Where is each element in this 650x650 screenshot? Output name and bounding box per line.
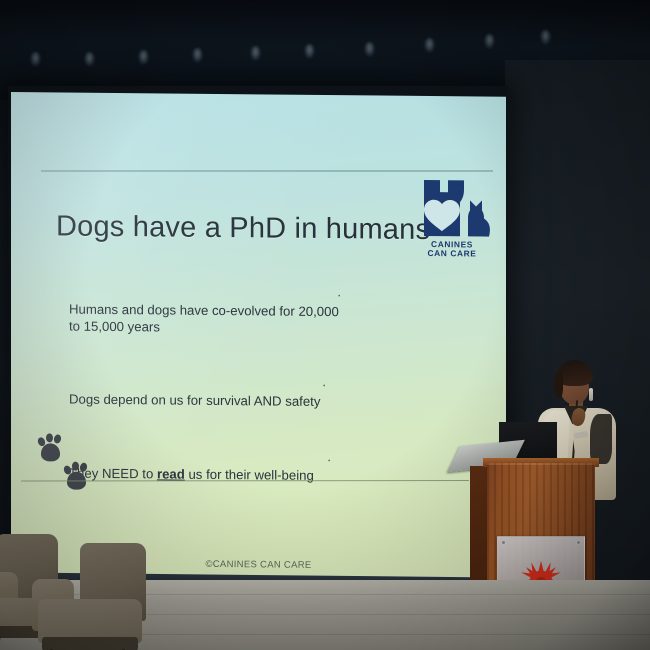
bullet-text: Humans and dogs have co-evolved for 20,0… [69, 301, 339, 334]
ceiling-light [138, 50, 149, 65]
bullet-marker: · [327, 451, 331, 468]
ceiling-light [84, 52, 95, 67]
slide-divider-bottom [21, 480, 469, 481]
dog-heart-logo-icon [408, 178, 494, 241]
speaker-shawl-pattern [590, 414, 612, 464]
logo-text: CANINES CAN CARE [410, 240, 494, 260]
logo-text-line2: CAN CARE [410, 249, 494, 259]
speaker-hair-side [554, 372, 563, 398]
ceiling-light [484, 34, 495, 49]
bullet-item: They NEED to read us for their well-bein… [69, 447, 399, 503]
chair [32, 543, 152, 650]
slide-title: Dogs have a PhD in humans [56, 210, 430, 247]
ceiling-light [540, 30, 551, 45]
slide-divider-top [41, 170, 493, 171]
ceiling-light [250, 46, 261, 61]
slide-bullet-list: Humans and dogs have co-evolved for 20,0… [69, 283, 399, 519]
bullet-marker: · [337, 286, 341, 303]
paw-print-icon [59, 460, 95, 492]
ceiling-light [192, 48, 203, 63]
projection-screen: Dogs have a PhD in humans CANINES CAN CA… [11, 92, 506, 586]
ceiling-light [424, 38, 435, 53]
ceiling-light [30, 52, 41, 67]
bullet-item: Dogs depend on us for survival AND safet… [69, 373, 399, 429]
presentation-photo: Dogs have a PhD in humans CANINES CAN CA… [0, 0, 650, 650]
canines-can-care-logo: CANINES CAN CARE [408, 178, 494, 279]
ceiling-light [364, 42, 375, 57]
ceiling-light [304, 44, 315, 59]
bullet-text: Dogs depend on us for survival AND safet… [69, 391, 320, 408]
bullet-item: Humans and dogs have co-evolved for 20,0… [69, 283, 399, 356]
speaker-earring [589, 388, 593, 401]
bullet-marker: · [322, 376, 326, 393]
